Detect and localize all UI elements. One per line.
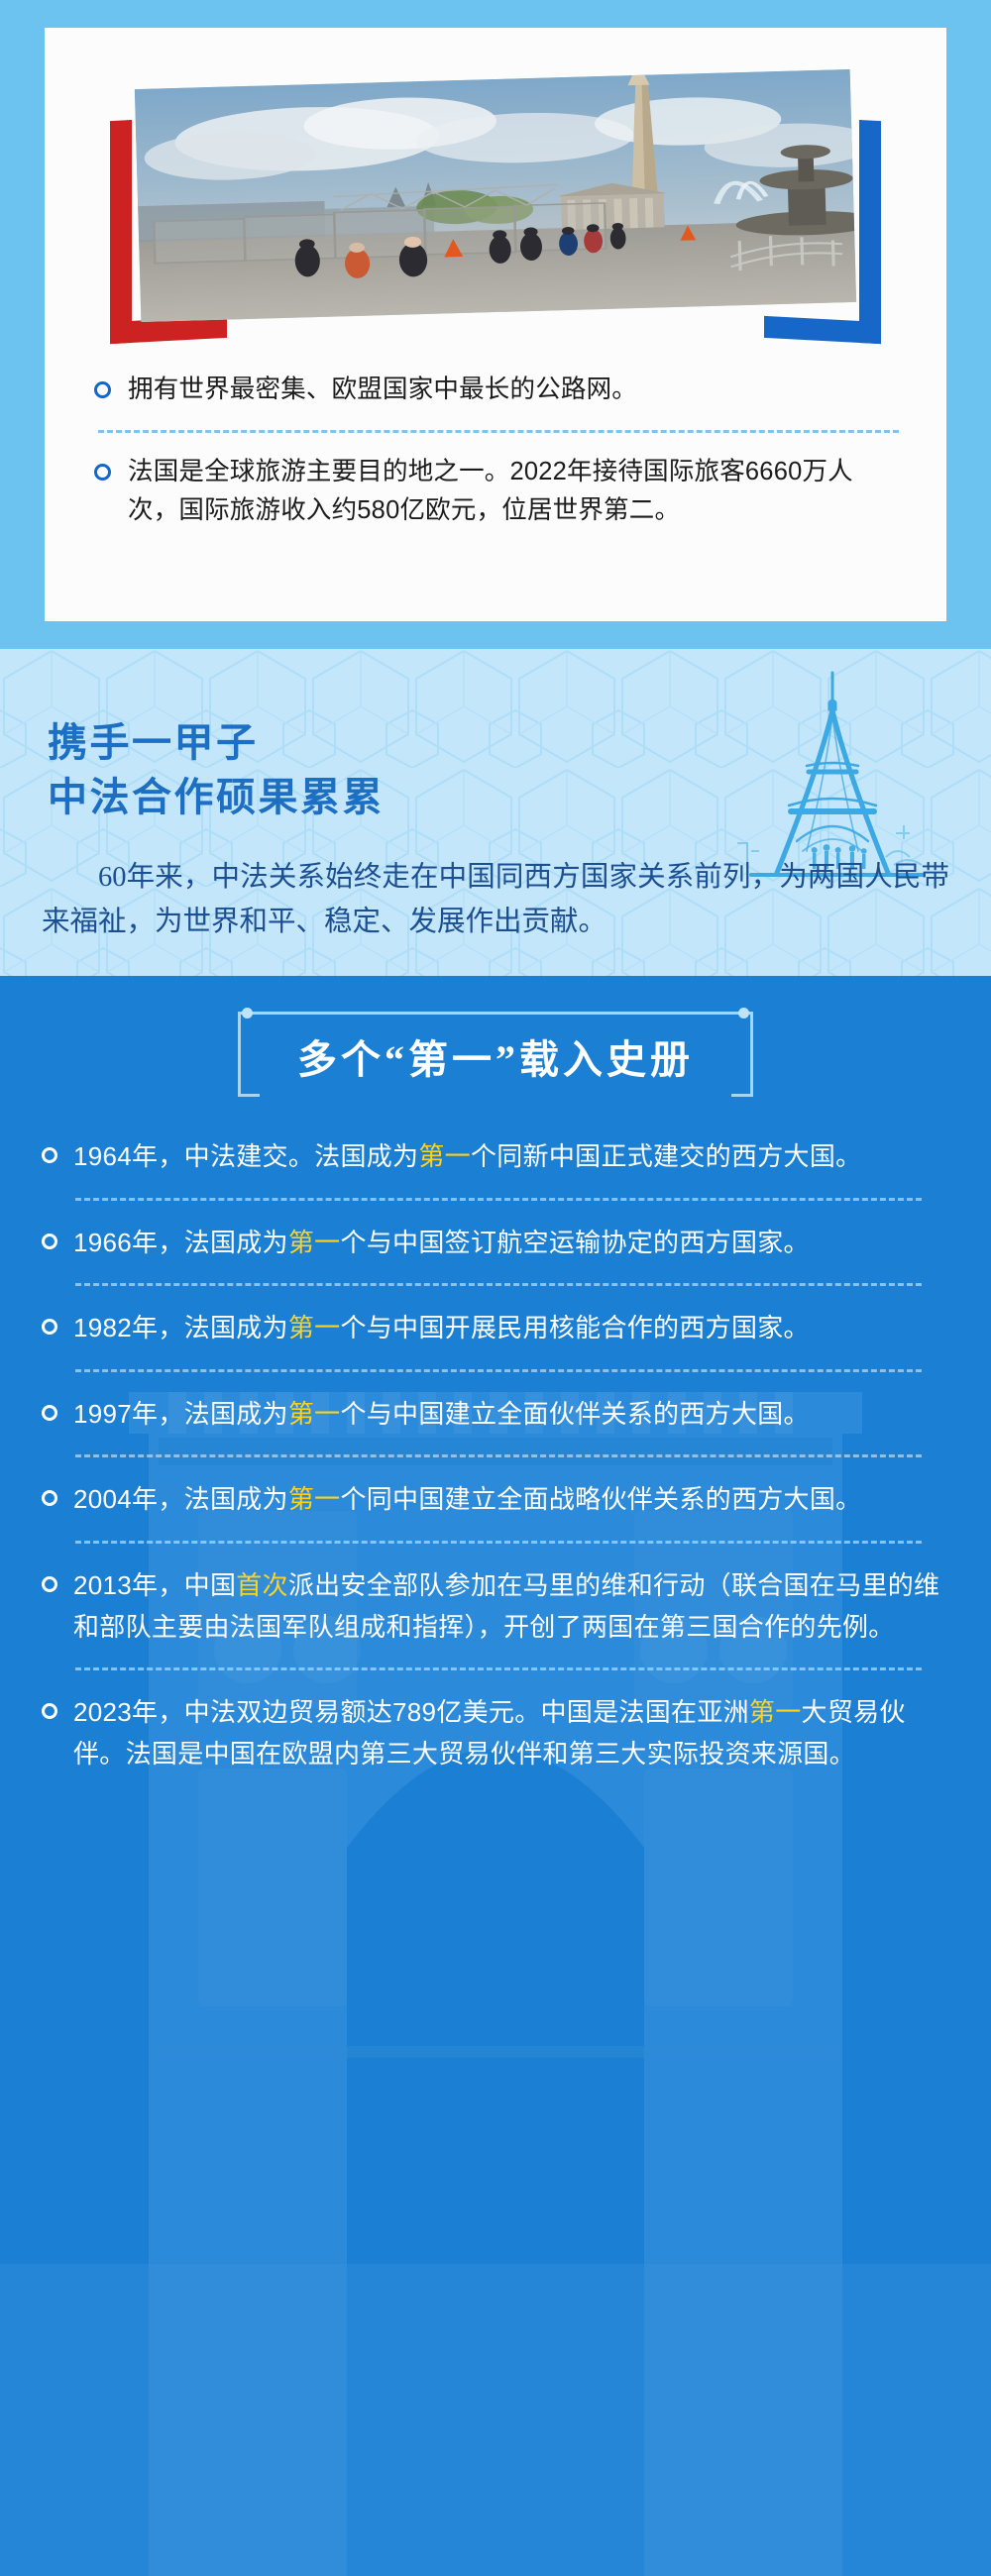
plain-phrase: 个同中国建立全面战略伙伴关系的西方大国。 — [340, 1484, 861, 1514]
plaque-top-bar — [248, 1012, 743, 1015]
fact-text: 法国是全球旅游主要目的地之一。2022年接待国际旅客6660万人次，国际旅游收入… — [128, 453, 901, 531]
list-divider — [75, 1198, 922, 1201]
bullet-ring-icon — [42, 1147, 57, 1163]
headline-section: 携手一甲子 中法合作硕果累累 60年来，中法关系始终走在中国同西方国家关系前列，… — [0, 649, 991, 976]
bullet-ring-icon — [42, 1405, 57, 1421]
facts-section: 拥有世界最密集、欧盟国家中最长的公路网。 法国是全球旅游主要目的地之一。2022… — [0, 0, 991, 649]
page-title: 携手一甲子 中法合作硕果累累 — [48, 716, 385, 825]
fact-bullet-2: 法国是全球旅游主要目的地之一。2022年接待国际旅客6660万人次，国际旅游收入… — [84, 449, 907, 535]
plaque-left-frame — [238, 1012, 260, 1097]
fact-bullet-1: 拥有世界最密集、欧盟国家中最长的公路网。 — [84, 367, 907, 414]
list-divider — [75, 1454, 922, 1457]
list-item: 1982年，法国成为第一个与中国开展民用核能合作的西方国家。 — [36, 1294, 955, 1361]
plain-phrase: 1964年，中法建交。法国成为 — [73, 1141, 418, 1171]
list-item-text: 2013年，中国首次派出安全部队参加在马里的维和行动（联合国在马里的维和部队主要… — [73, 1565, 951, 1648]
list-item: 2023年，中法双边贸易额达789亿美元。中国是法国在亚洲第一大贸易伙伴。法国是… — [36, 1678, 955, 1786]
highlighted-phrase: 第一 — [749, 1697, 802, 1727]
bullet-ring-icon — [42, 1319, 57, 1335]
list-item: 1966年，法国成为第一个与中国签订航空运输协定的西方国家。 — [36, 1209, 955, 1276]
list-item-text: 1982年，法国成为第一个与中国开展民用核能合作的西方国家。 — [73, 1308, 810, 1349]
bullet-ring-icon — [42, 1576, 57, 1592]
place-de-la-concorde-photo — [135, 69, 856, 322]
photo-illustration — [135, 69, 856, 322]
list-item: 1997年，法国成为第一个与中国建立全面伙伴关系的西方大国。 — [36, 1380, 955, 1448]
plaque-dot-right — [738, 1008, 749, 1019]
plain-phrase: 1966年，法国成为 — [73, 1228, 288, 1257]
facts-divider — [98, 430, 899, 433]
bullet-ring-icon — [42, 1490, 57, 1506]
plain-phrase: 个与中国签订航空运输协定的西方国家。 — [340, 1228, 809, 1257]
list-item: 2004年，法国成为第一个同中国建立全面战略伙伴关系的西方大国。 — [36, 1465, 955, 1533]
plain-phrase: 1997年，法国成为 — [73, 1399, 288, 1429]
list-divider — [75, 1667, 922, 1670]
list-divider — [75, 1369, 922, 1372]
firsts-list: 1964年，中法建交。法国成为第一个同新中国正式建交的西方大国。1966年，法国… — [0, 1097, 991, 1786]
plaque-dot-left — [242, 1008, 253, 1019]
highlighted-phrase: 首次 — [236, 1570, 288, 1600]
list-divider — [75, 1283, 922, 1286]
highlighted-phrase: 第一 — [288, 1484, 341, 1514]
photo-block — [104, 79, 887, 327]
list-item: 2013年，中国首次派出安全部队参加在马里的维和行动（联合国在马里的维和部队主要… — [36, 1552, 955, 1660]
list-item-text: 2023年，中法双边贸易额达789亿美元。中国是法国在亚洲第一大贸易伙伴。法国是… — [73, 1692, 951, 1774]
plain-phrase: 2013年，中国 — [73, 1570, 236, 1600]
list-item-text: 1997年，法国成为第一个与中国建立全面伙伴关系的西方大国。 — [73, 1394, 810, 1436]
headline-line-1: 携手一甲子 — [48, 716, 385, 771]
list-item-text: 2004年，法国成为第一个同中国建立全面战略伙伴关系的西方大国。 — [73, 1479, 861, 1521]
plain-phrase: 2004年，法国成为 — [73, 1484, 288, 1514]
list-divider — [75, 1541, 922, 1544]
section-plaque: 多个“第一”载入史册 — [238, 1012, 753, 1097]
bullet-ring-icon — [94, 464, 111, 481]
plaque-right-frame — [731, 1012, 753, 1097]
section-heading: 多个“第一”载入史册 — [238, 1027, 753, 1085]
plain-phrase: 个与中国建立全面伙伴关系的西方大国。 — [340, 1399, 809, 1429]
list-item: 1964年，中法建交。法国成为第一个同新中国正式建交的西方大国。 — [36, 1123, 955, 1190]
plain-phrase: 个与中国开展民用核能合作的西方国家。 — [340, 1313, 809, 1342]
fact-text: 拥有世界最密集、欧盟国家中最长的公路网。 — [128, 371, 637, 410]
highlighted-phrase: 第一 — [288, 1228, 341, 1257]
highlighted-phrase: 第一 — [288, 1313, 341, 1342]
list-item-text: 1966年，法国成为第一个与中国签订航空运输协定的西方国家。 — [73, 1223, 810, 1264]
highlighted-phrase: 第一 — [288, 1399, 341, 1429]
facts-card: 拥有世界最密集、欧盟国家中最长的公路网。 法国是全球旅游主要目的地之一。2022… — [45, 28, 946, 621]
lede-paragraph: 60年来，中法关系始终走在中国同西方国家关系前列，为两国人民带来福祉，为世界和平… — [42, 855, 949, 944]
firsts-list-section: 多个“第一”载入史册 1964年，中法建交。法国成为第一个同新中国正式建交的西方… — [0, 976, 991, 2576]
bullet-ring-icon — [42, 1703, 57, 1719]
bullet-ring-icon — [94, 381, 111, 398]
plain-phrase: 个同新中国正式建交的西方大国。 — [471, 1141, 862, 1171]
list-item-text: 1964年，中法建交。法国成为第一个同新中国正式建交的西方大国。 — [73, 1136, 861, 1178]
highlighted-phrase: 第一 — [418, 1141, 471, 1171]
infographic-page: 拥有世界最密集、欧盟国家中最长的公路网。 法国是全球旅游主要目的地之一。2022… — [0, 0, 991, 2576]
headline-line-2: 中法合作硕果累累 — [48, 771, 385, 825]
bullet-ring-icon — [42, 1234, 57, 1249]
plain-phrase: 2023年，中法双边贸易额达789亿美元。中国是法国在亚洲 — [73, 1697, 749, 1727]
plain-phrase: 1982年，法国成为 — [73, 1313, 288, 1342]
